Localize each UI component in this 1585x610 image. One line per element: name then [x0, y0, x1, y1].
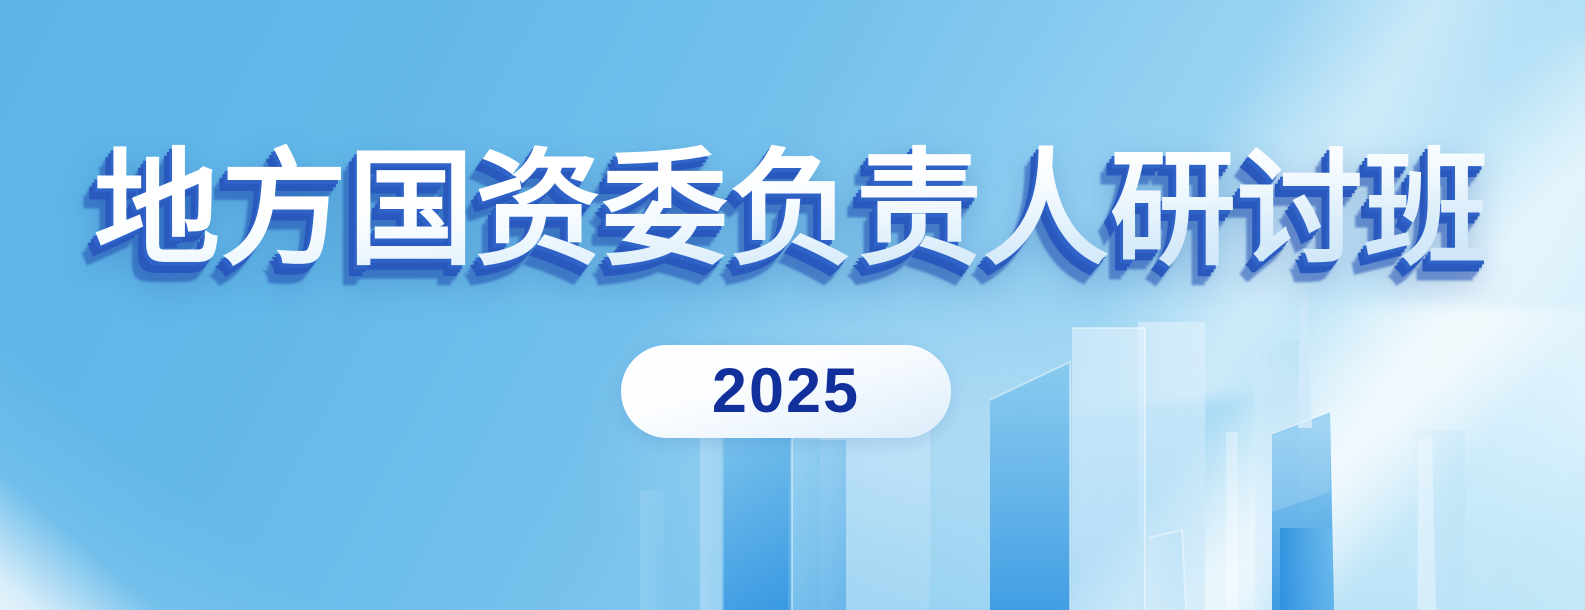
year-badge: 2025 [621, 345, 951, 438]
light-streak-right-middle-icon [1065, 40, 1585, 610]
city-skyline-graphic [0, 280, 1585, 610]
light-streak-bottom-left-icon [0, 338, 380, 610]
banner-title: 地方国资委负责人研讨班 [94, 144, 1491, 275]
skyline-front-layer [640, 290, 1436, 610]
event-banner: 地方国资委负责人研讨班 2025 [0, 0, 1585, 610]
light-streak-bottom-right-icon [876, 287, 1585, 610]
banner-title-container: 地方国资委负责人研讨班 [0, 144, 1585, 275]
year-badge-label: 2025 [712, 360, 860, 423]
light-streak-bottom-left-edge-icon [0, 430, 220, 610]
